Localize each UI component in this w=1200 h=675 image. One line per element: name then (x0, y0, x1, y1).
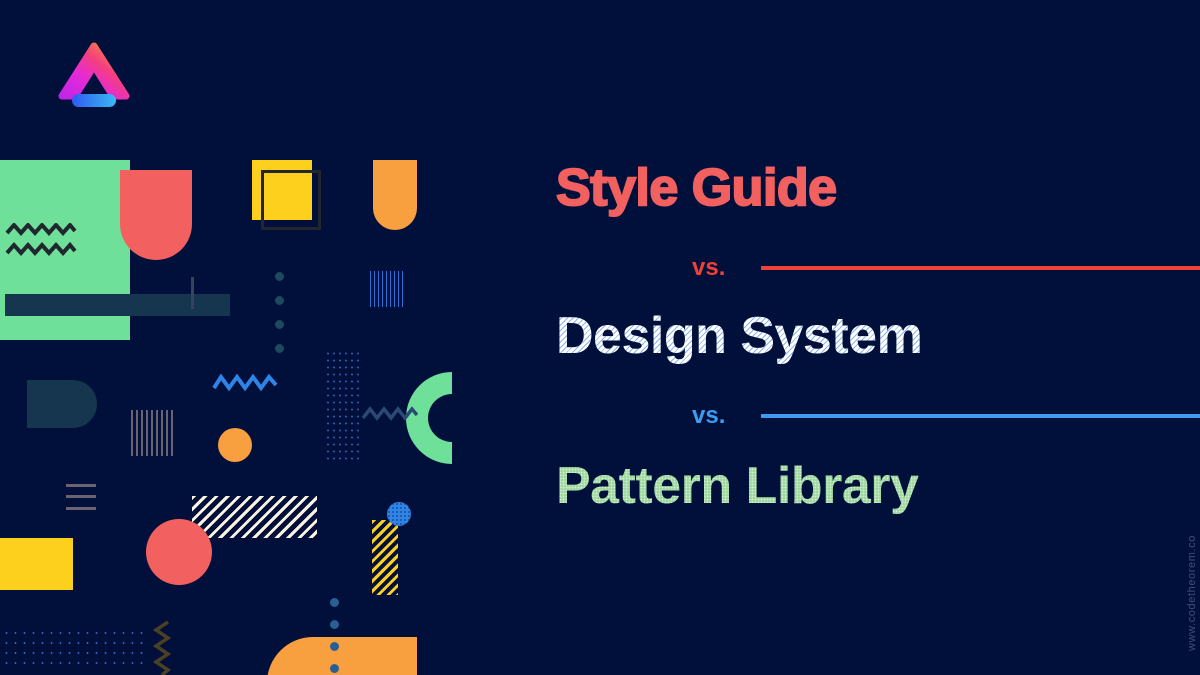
separator-row-2: vs. (556, 402, 1200, 430)
orange-dome-shape (373, 160, 417, 230)
headline-stack: Style Guide vs. Design System Design Sys… (556, 0, 1200, 675)
separator-line-red (761, 266, 1200, 270)
vs-label-2: vs. (692, 402, 725, 430)
heading-style-guide: Style Guide (556, 158, 837, 218)
heading-design-system: Design System (556, 306, 922, 366)
gray-vertical-stripes (131, 410, 174, 456)
blue-zigzag (212, 372, 278, 394)
coral-dome-shape (120, 170, 192, 260)
yellow-hatch-rect (372, 520, 398, 595)
orange-corner-shape (267, 637, 417, 675)
navy-tick (191, 277, 194, 309)
separator-line-blue (761, 414, 1200, 418)
orange-circle (218, 428, 252, 462)
heading-pattern-library-texture: Pattern Library (556, 456, 918, 516)
outlined-square (261, 170, 321, 230)
decorative-shapes-panel (0, 0, 470, 675)
white-hatch-box (192, 496, 317, 538)
navy-pill-shape (27, 380, 97, 428)
blue-dot-column (330, 598, 340, 675)
website-url[interactable]: www.codetheorem.co (1186, 535, 1198, 651)
three-gray-lines (66, 484, 96, 510)
navy-bar (5, 294, 230, 316)
olive-zigzag (152, 620, 172, 675)
separator-row-1: vs. (556, 254, 1200, 282)
blue-dot-grid (325, 350, 361, 460)
vs-label-1: vs. (692, 254, 725, 282)
blue-vertical-stripes (370, 271, 406, 307)
teal-dot-column (275, 272, 287, 352)
blue-dotted-circle (387, 502, 411, 526)
yellow-rectangle (0, 538, 73, 590)
dark-zigzag (5, 223, 77, 257)
slide-canvas: Style Guide vs. Design System Design Sys… (0, 0, 1200, 675)
bottom-dot-grid (2, 628, 146, 672)
coral-circle (146, 519, 212, 585)
arc-zigzag (362, 405, 418, 423)
